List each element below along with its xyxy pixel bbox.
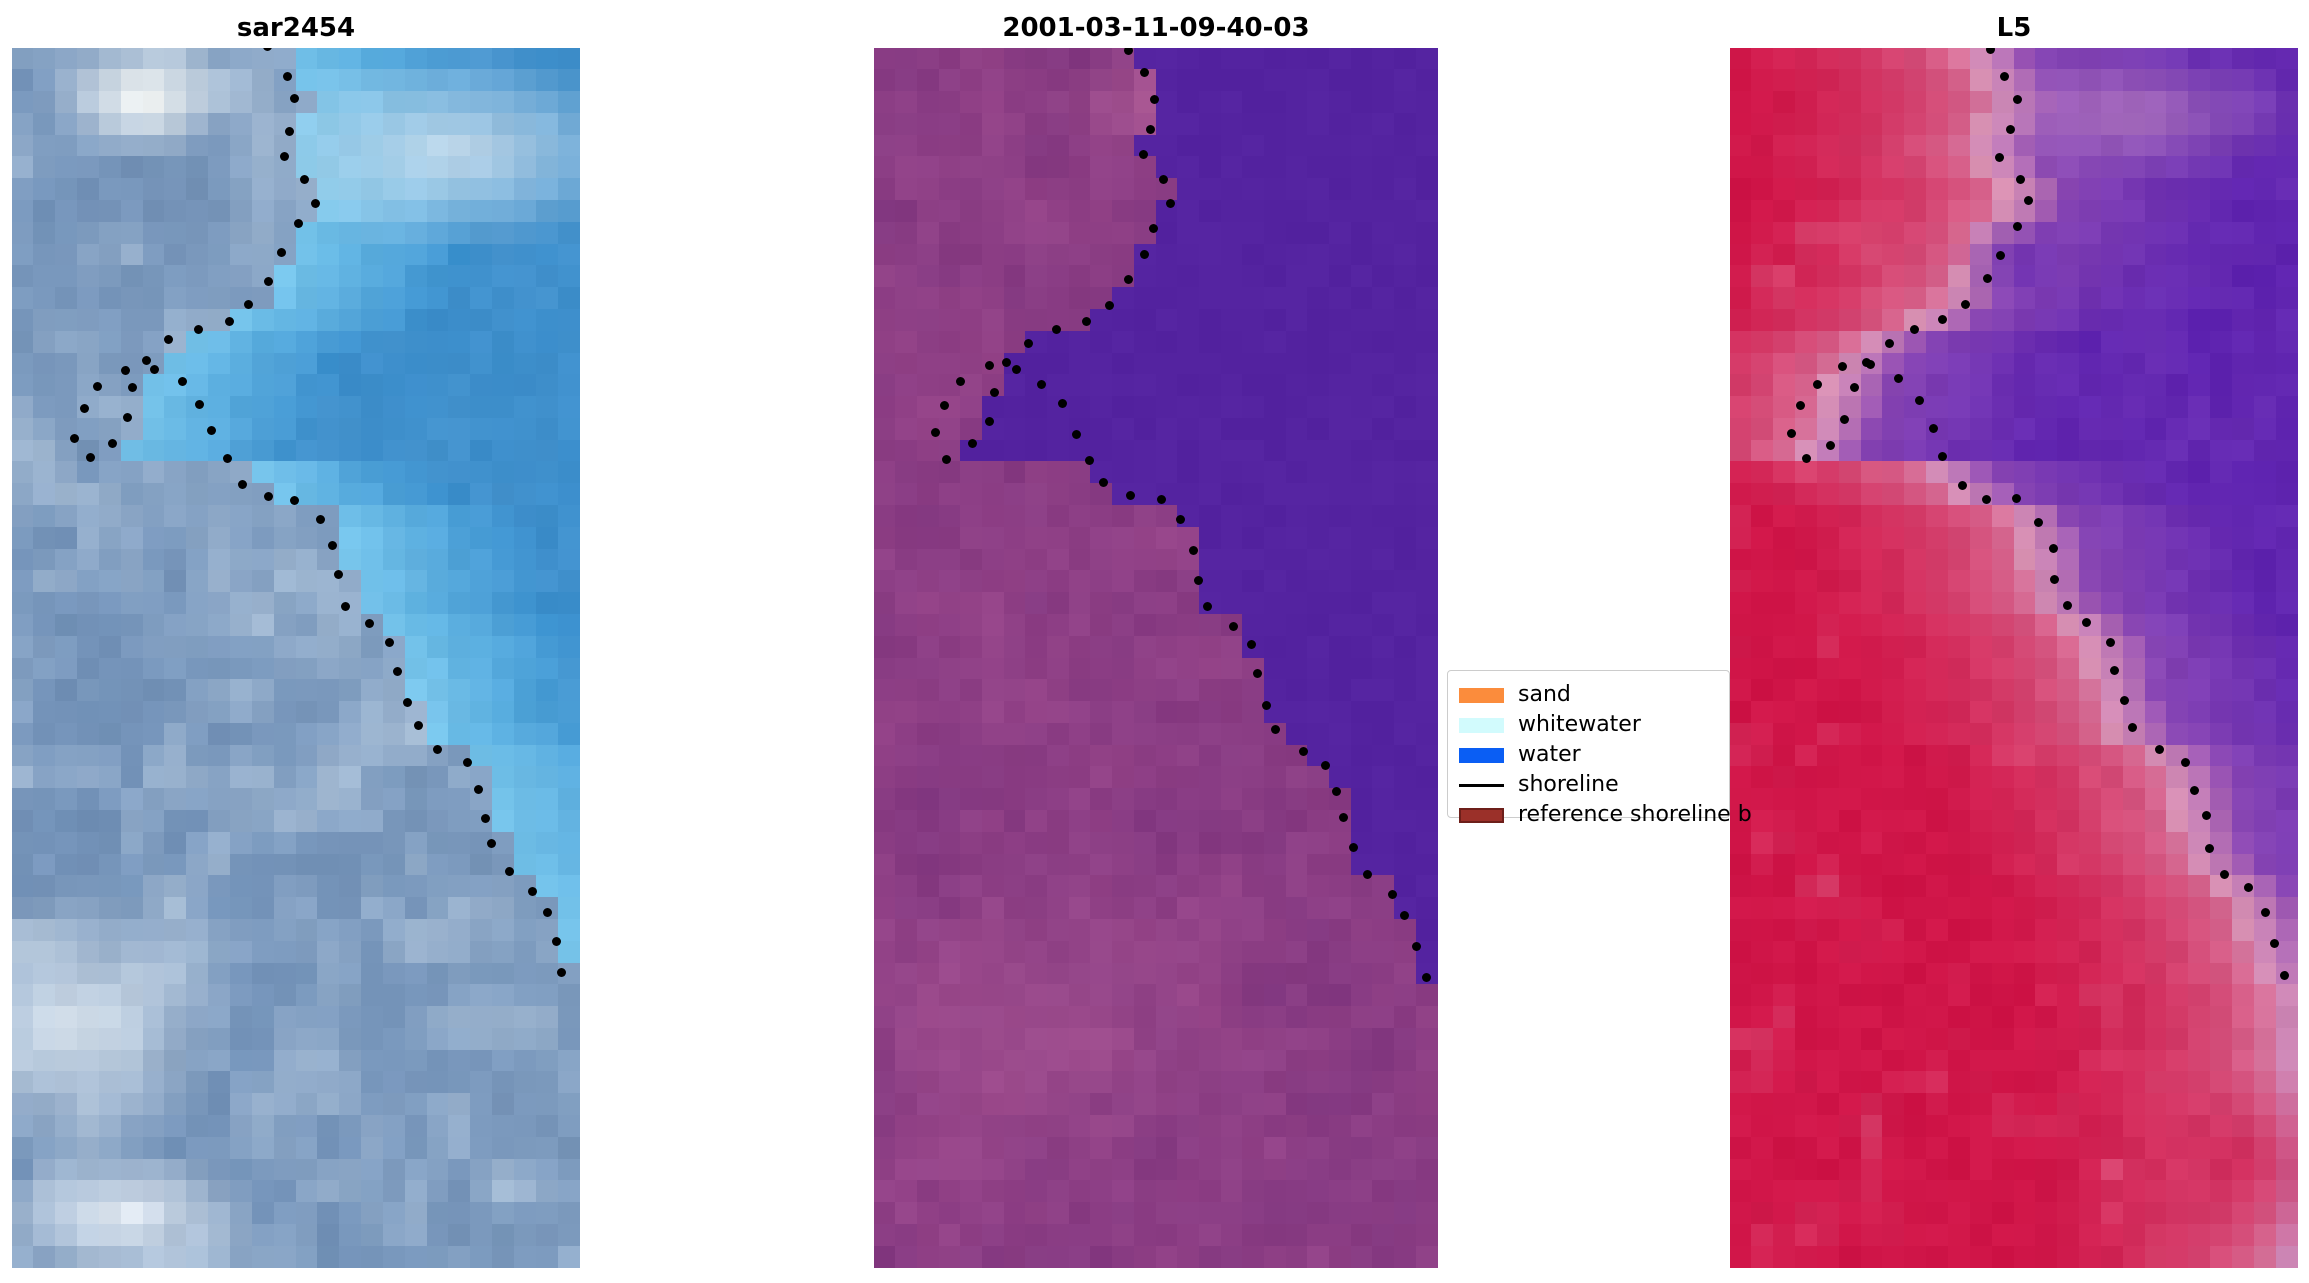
shoreline-dot bbox=[285, 127, 294, 136]
panel-title-classification: 2001-03-11-09-40-03 bbox=[874, 8, 1438, 48]
shoreline-dot bbox=[990, 388, 999, 397]
shoreline-dot bbox=[2016, 175, 2025, 184]
shoreline-dot bbox=[1146, 125, 1155, 134]
shoreline-dot bbox=[1388, 890, 1397, 899]
shoreline-dot bbox=[2202, 811, 2211, 820]
shoreline-dot bbox=[238, 480, 247, 489]
shoreline-dot bbox=[1253, 669, 1262, 678]
shoreline-dot bbox=[1422, 973, 1431, 982]
reference-shoreline-swatch-icon bbox=[1459, 808, 1504, 823]
shoreline-dot bbox=[1910, 325, 1919, 334]
shoreline-dot bbox=[311, 199, 320, 208]
shoreline-dot bbox=[178, 377, 187, 386]
shoreline-dot bbox=[1840, 415, 1849, 424]
shoreline-dot bbox=[1796, 401, 1805, 410]
shoreline-dot bbox=[2000, 72, 2009, 81]
shoreline-dot bbox=[1037, 380, 1046, 389]
shoreline-dot bbox=[1157, 495, 1166, 504]
panel-sar2454: sar2454 bbox=[12, 8, 580, 1268]
shoreline-dot bbox=[86, 453, 95, 462]
whitewater-swatch-icon bbox=[1459, 718, 1504, 733]
shoreline-dot bbox=[2082, 618, 2091, 627]
axes-l5 bbox=[1730, 48, 2298, 1268]
legend-label-sand: sand bbox=[1518, 680, 1571, 710]
legend-box: sand whitewater water shoreline referenc… bbox=[1447, 670, 1730, 818]
shoreline-dot bbox=[1150, 95, 1159, 104]
shoreline-dot bbox=[123, 413, 132, 422]
shoreline-dot bbox=[341, 602, 350, 611]
shoreline-dot bbox=[433, 745, 442, 754]
shoreline-dot bbox=[393, 667, 402, 676]
shoreline-dot bbox=[1838, 362, 1847, 371]
legend-item-reference-shoreline: reference shoreline b bbox=[1459, 800, 1718, 830]
axes-classification bbox=[874, 48, 1438, 1268]
sand-swatch-icon bbox=[1459, 688, 1504, 703]
panel-title-l5: L5 bbox=[1730, 8, 2298, 48]
shoreline-dot bbox=[93, 382, 102, 391]
shoreline-dot bbox=[207, 426, 216, 435]
shoreline-dot bbox=[403, 698, 412, 707]
shoreline-dot bbox=[2013, 222, 2022, 231]
shoreline-overlay-sar2454 bbox=[12, 48, 580, 1268]
shoreline-dot bbox=[1189, 546, 1198, 555]
shoreline-dot bbox=[1299, 747, 1308, 756]
shoreline-dot bbox=[2220, 870, 2229, 879]
shoreline-dot bbox=[1271, 725, 1280, 734]
axes-sar2454 bbox=[12, 48, 580, 1268]
legend-item-whitewater: whitewater bbox=[1459, 710, 1718, 740]
shoreline-dot bbox=[244, 300, 253, 309]
shoreline-dot bbox=[2244, 883, 2253, 892]
shoreline-overlay-l5 bbox=[1730, 48, 2298, 1268]
shoreline-dot bbox=[2120, 696, 2129, 705]
shoreline-dot bbox=[290, 496, 299, 505]
legend-item-sand: sand bbox=[1459, 680, 1718, 710]
shoreline-dot bbox=[1938, 452, 1947, 461]
shoreline-dot bbox=[1105, 301, 1114, 310]
shoreline-dot bbox=[2205, 844, 2214, 853]
shoreline-dot bbox=[1149, 224, 1158, 233]
panel-title-sar2454: sar2454 bbox=[12, 8, 580, 48]
shoreline-dot bbox=[487, 839, 496, 848]
shoreline-dot bbox=[1247, 640, 1256, 649]
shoreline-dot bbox=[290, 94, 299, 103]
shoreline-dot bbox=[414, 721, 423, 730]
shoreline-dot bbox=[128, 383, 137, 392]
shoreline-dot bbox=[1332, 787, 1341, 796]
shoreline-dot bbox=[1012, 365, 1021, 374]
shoreline-dot bbox=[194, 325, 203, 334]
shoreline-dot bbox=[264, 277, 273, 286]
shoreline-dot bbox=[1958, 481, 1967, 490]
shoreline-dot bbox=[1339, 813, 1348, 822]
shoreline-dot bbox=[1024, 339, 1033, 348]
figure-canvas: sar2454 2001-03-11-09-40-03 L5 sand whit… bbox=[0, 0, 2309, 1283]
shoreline-dot bbox=[940, 401, 949, 410]
shoreline-dot bbox=[2261, 908, 2270, 917]
shoreline-dot bbox=[2050, 575, 2059, 584]
shoreline-dot bbox=[280, 152, 289, 161]
shoreline-dot bbox=[334, 570, 343, 579]
shoreline-dot bbox=[1194, 576, 1203, 585]
shoreline-dot bbox=[942, 455, 951, 464]
shoreline-dot bbox=[1082, 317, 1091, 326]
shoreline-dot bbox=[463, 758, 472, 767]
panel-classification: 2001-03-11-09-40-03 bbox=[874, 8, 1438, 1268]
shoreline-dot bbox=[552, 937, 561, 946]
shoreline-dot bbox=[2155, 745, 2164, 754]
shoreline-dot bbox=[1140, 250, 1149, 259]
shoreline-overlay-classification bbox=[874, 48, 1438, 1268]
shoreline-dot bbox=[1995, 153, 2004, 162]
shoreline-dot bbox=[1787, 429, 1796, 438]
shoreline-dot bbox=[70, 434, 79, 443]
panel-l5: L5 bbox=[1730, 8, 2298, 1268]
shoreline-dot bbox=[1099, 478, 1108, 487]
water-swatch-icon bbox=[1459, 748, 1504, 763]
shoreline-dot bbox=[1982, 495, 1991, 504]
shoreline-dot bbox=[2006, 125, 2015, 134]
shoreline-dot bbox=[316, 515, 325, 524]
shoreline-dot bbox=[474, 785, 483, 794]
shoreline-dot bbox=[1072, 430, 1081, 439]
shoreline-dot bbox=[264, 492, 273, 501]
shoreline-dot bbox=[2024, 196, 2033, 205]
shoreline-dot bbox=[1166, 199, 1175, 208]
shoreline-dot bbox=[2270, 939, 2279, 948]
shoreline-dot bbox=[1052, 325, 1061, 334]
shoreline-dot bbox=[225, 317, 234, 326]
shoreline-dot bbox=[1400, 911, 1409, 920]
legend-item-water: water bbox=[1459, 740, 1718, 770]
legend-label-shoreline: shoreline bbox=[1518, 770, 1619, 800]
shoreline-dot bbox=[2280, 971, 2289, 980]
shoreline-dot bbox=[528, 887, 537, 896]
shoreline-dot bbox=[505, 867, 514, 876]
shoreline-dot bbox=[1929, 424, 1938, 433]
shoreline-dot bbox=[150, 365, 159, 374]
shoreline-dot bbox=[1915, 396, 1924, 405]
shoreline-dot bbox=[263, 48, 272, 51]
shoreline-dot bbox=[195, 400, 204, 409]
shoreline-dot bbox=[2049, 544, 2058, 553]
shoreline-dot bbox=[365, 619, 374, 628]
shoreline-dot bbox=[1262, 701, 1271, 710]
shoreline-dot bbox=[557, 968, 566, 977]
shoreline-dot bbox=[1203, 602, 1212, 611]
shoreline-dot bbox=[2012, 494, 2021, 503]
legend-label-whitewater: whitewater bbox=[1518, 710, 1641, 740]
shoreline-dot bbox=[985, 361, 994, 370]
shoreline-dot bbox=[223, 454, 232, 463]
shoreline-dot bbox=[1986, 48, 1995, 54]
shoreline-dot bbox=[2106, 638, 2115, 647]
shoreline-dot bbox=[1363, 870, 1372, 879]
legend-item-shoreline: shoreline bbox=[1459, 770, 1718, 800]
shoreline-dot bbox=[956, 377, 965, 386]
shoreline-dot bbox=[80, 404, 89, 413]
shoreline-dot bbox=[1826, 441, 1835, 450]
shoreline-dot bbox=[543, 908, 552, 917]
shoreline-dot bbox=[1996, 251, 2005, 260]
shoreline-dot bbox=[1349, 843, 1358, 852]
shoreline-dot bbox=[294, 219, 303, 228]
shoreline-dot bbox=[121, 366, 130, 375]
shoreline-dot bbox=[1124, 275, 1133, 284]
shoreline-dot bbox=[931, 428, 940, 437]
shoreline-dot bbox=[1885, 339, 1894, 348]
shoreline-dot bbox=[1938, 315, 1947, 324]
shoreline-dot bbox=[277, 248, 286, 257]
legend-label-water: water bbox=[1518, 740, 1581, 770]
shoreline-dot bbox=[1124, 48, 1133, 55]
shoreline-dot bbox=[1983, 274, 1992, 283]
shoreline-dot bbox=[1961, 300, 1970, 309]
shoreline-dot bbox=[1229, 622, 1238, 631]
shoreline-dot bbox=[142, 356, 151, 365]
shoreline-dot bbox=[2110, 666, 2119, 675]
shoreline-dot bbox=[300, 175, 309, 184]
shoreline-dot bbox=[1802, 454, 1811, 463]
shoreline-dot bbox=[1321, 761, 1330, 770]
shoreline-dot bbox=[108, 439, 117, 448]
shoreline-dot bbox=[1126, 491, 1135, 500]
legend-label-reference-shoreline: reference shoreline b bbox=[1518, 800, 1752, 830]
shoreline-dot bbox=[1140, 68, 1149, 77]
shoreline-dot bbox=[481, 814, 490, 823]
shoreline-dot bbox=[1176, 515, 1185, 524]
shoreline-dot bbox=[2190, 786, 2199, 795]
shoreline-dot bbox=[328, 541, 337, 550]
shoreline-dot bbox=[1894, 374, 1903, 383]
shoreline-dot bbox=[2013, 95, 2022, 104]
shoreline-dot bbox=[2063, 601, 2072, 610]
shoreline-dot bbox=[985, 417, 994, 426]
shoreline-dot bbox=[1058, 399, 1067, 408]
shoreline-line-icon bbox=[1459, 778, 1504, 793]
shoreline-dot bbox=[164, 335, 173, 344]
shoreline-dot bbox=[1002, 358, 1011, 367]
shoreline-dot bbox=[1813, 380, 1822, 389]
shoreline-dot bbox=[385, 638, 394, 647]
shoreline-dot bbox=[1866, 360, 1875, 369]
shoreline-dot bbox=[2181, 758, 2190, 767]
shoreline-dot bbox=[1159, 175, 1168, 184]
shoreline-dot bbox=[2034, 518, 2043, 527]
shoreline-dot bbox=[2128, 723, 2137, 732]
shoreline-dot bbox=[1139, 150, 1148, 159]
shoreline-dot bbox=[1412, 942, 1421, 951]
shoreline-dot bbox=[1085, 456, 1094, 465]
shoreline-dot bbox=[1850, 383, 1859, 392]
shoreline-dot bbox=[283, 72, 292, 81]
shoreline-dot bbox=[968, 439, 977, 448]
